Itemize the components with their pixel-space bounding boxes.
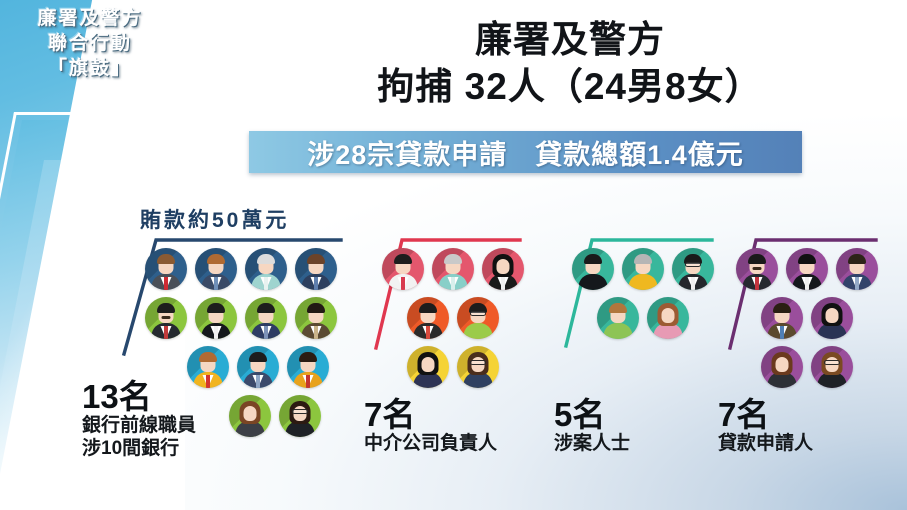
avatar-row — [382, 248, 524, 290]
person-avatar-icon — [295, 297, 337, 339]
headline-line-2: 拘捕 32人（24男8女） — [250, 63, 890, 110]
group-count-agency-heads: 7名 — [364, 398, 415, 431]
avatar-face — [422, 357, 435, 372]
avatar-hair — [299, 352, 317, 362]
person-avatar-icon — [287, 346, 329, 388]
avatar-hair — [584, 254, 602, 264]
person-avatar-icon — [811, 346, 853, 388]
avatar-face — [826, 308, 839, 323]
avatar-necktie — [264, 277, 268, 290]
group-desc-line-1: 涉案人士 — [554, 432, 630, 455]
avatar-row — [187, 346, 337, 388]
group-description-loan-applicants: 貸款申請人 — [718, 432, 813, 455]
avatar-grid-loan-applicants — [736, 248, 878, 395]
person-avatar-icon — [279, 395, 321, 437]
avatar-face — [776, 357, 789, 372]
avatar-glasses-icon — [824, 360, 840, 365]
avatar-face — [244, 406, 257, 421]
group-description-agency-heads: 中介公司負責人 — [364, 432, 497, 455]
person-avatar-icon — [672, 248, 714, 290]
group-desc-line-2: 涉10間銀行 — [82, 437, 196, 460]
person-avatar-icon — [736, 248, 778, 290]
person-avatar-icon — [597, 297, 639, 339]
person-avatar-icon — [432, 248, 474, 290]
person-avatar-icon — [245, 297, 287, 339]
avatar-row — [761, 297, 878, 339]
group-desc-line-1: 貸款申請人 — [718, 432, 813, 455]
avatar-row — [229, 395, 337, 437]
avatar-hair — [848, 254, 866, 264]
group-count-bank-staff: 13名 — [82, 380, 152, 413]
avatar-hair — [249, 352, 267, 362]
avatar-row — [145, 248, 337, 290]
avatar-hair — [257, 303, 275, 313]
person-avatar-icon — [237, 346, 279, 388]
person-avatar-icon — [195, 297, 237, 339]
avatar-necktie — [214, 326, 218, 339]
avatar-hair — [157, 303, 175, 313]
avatar-glasses-icon — [470, 360, 486, 365]
avatar-hair — [307, 254, 325, 264]
avatar-necktie — [314, 277, 318, 290]
avatar-grid-agency-heads — [382, 248, 524, 395]
person-avatar-icon — [761, 297, 803, 339]
avatar-grid-involved-persons — [572, 248, 714, 346]
person-avatar-icon — [382, 248, 424, 290]
person-avatar-icon — [836, 248, 878, 290]
person-avatar-icon — [572, 248, 614, 290]
avatar-necktie — [426, 326, 430, 339]
avatar-row — [736, 248, 878, 290]
person-avatar-icon — [482, 248, 524, 290]
avatar-necktie — [214, 277, 218, 290]
avatar-body — [464, 323, 493, 339]
avatar-necktie — [306, 375, 310, 388]
person-avatar-icon — [145, 248, 187, 290]
summary-banner-text: 涉28宗貸款申請 貸款總額1.4億元 — [307, 133, 744, 172]
avatar-necktie — [206, 375, 210, 388]
avatar-moustache — [162, 316, 171, 319]
page-title: 廉署及警方 拘捕 32人（24男8女） — [250, 16, 890, 111]
avatar-hair — [157, 254, 175, 264]
group-count-involved-persons: 5名 — [554, 398, 605, 431]
bribe-amount-note: 賄款約50萬元 — [140, 204, 289, 234]
avatar-hair — [199, 352, 217, 362]
infographic-canvas: 廉署及警方 聯合行動 「旗鼓」 廉署及警方 拘捕 32人（24男8女） 涉28宗… — [0, 0, 907, 510]
person-avatar-icon — [145, 297, 187, 339]
person-avatar-icon — [407, 346, 449, 388]
person-avatar-icon — [457, 297, 499, 339]
avatar-hair — [634, 254, 652, 264]
avatar-necktie — [164, 326, 168, 339]
logo-line-1: 廉署及警方 — [10, 6, 170, 31]
person-avatar-icon — [295, 248, 337, 290]
avatar-body — [579, 274, 608, 290]
avatar-row — [145, 297, 337, 339]
operation-logo-badge: 廉署及警方 聯合行動 「旗鼓」 — [10, 6, 170, 81]
avatar-face — [497, 259, 510, 274]
group-count-loan-applicants: 7名 — [718, 398, 769, 431]
avatar-necktie — [855, 277, 859, 290]
avatar-necktie — [164, 277, 168, 290]
avatar-necktie — [691, 277, 695, 290]
avatar-hair — [773, 303, 791, 313]
group-description-involved-persons: 涉案人士 — [554, 432, 630, 455]
person-avatar-icon — [245, 248, 287, 290]
avatar-row — [572, 248, 714, 290]
avatar-necktie — [314, 326, 318, 339]
person-avatar-icon — [457, 346, 499, 388]
person-avatar-icon — [187, 346, 229, 388]
avatar-body — [629, 274, 658, 290]
logo-line-2: 聯合行動 — [10, 31, 170, 56]
avatar-hair — [307, 303, 325, 313]
avatar-row — [407, 297, 524, 339]
person-avatar-icon — [622, 248, 664, 290]
group-desc-line-1: 中介公司負責人 — [364, 432, 497, 455]
avatar-necktie — [755, 277, 759, 290]
avatar-hair — [444, 254, 462, 264]
person-avatar-icon — [811, 297, 853, 339]
avatar-necktie — [780, 326, 784, 339]
avatar-necktie — [264, 326, 268, 339]
avatar-necktie — [805, 277, 809, 290]
avatar-face — [662, 308, 675, 323]
avatar-glasses-icon — [470, 311, 486, 316]
avatar-hair — [207, 254, 225, 264]
avatar-glasses-icon — [685, 262, 701, 267]
person-avatar-icon — [786, 248, 828, 290]
group-desc-line-1: 銀行前線職員 — [82, 414, 196, 437]
person-avatar-icon — [407, 297, 449, 339]
person-avatar-icon — [229, 395, 271, 437]
avatar-hair — [207, 303, 225, 313]
person-avatar-icon — [761, 346, 803, 388]
avatar-necktie — [256, 375, 260, 388]
avatar-necktie — [501, 277, 505, 290]
avatar-row — [761, 346, 878, 388]
avatar-moustache — [753, 267, 762, 270]
logo-line-3: 「旗鼓」 — [10, 56, 170, 81]
avatar-hair — [748, 254, 766, 264]
avatar-row — [597, 297, 714, 339]
avatar-row — [407, 346, 524, 388]
summary-banner: 涉28宗貸款申請 貸款總額1.4億元 — [249, 131, 802, 173]
person-avatar-icon — [647, 297, 689, 339]
avatar-necktie — [451, 277, 455, 290]
avatar-hair — [394, 254, 412, 264]
avatar-hair — [609, 303, 627, 313]
avatar-body — [604, 323, 633, 339]
avatar-hair — [257, 254, 275, 264]
headline-line-1: 廉署及警方 — [250, 16, 890, 63]
avatar-hair — [419, 303, 437, 313]
group-description-bank-staff: 銀行前線職員涉10間銀行 — [82, 414, 196, 460]
avatar-glasses-icon — [292, 409, 308, 414]
avatar-necktie — [401, 277, 405, 290]
person-avatar-icon — [195, 248, 237, 290]
avatar-hair — [798, 254, 816, 264]
